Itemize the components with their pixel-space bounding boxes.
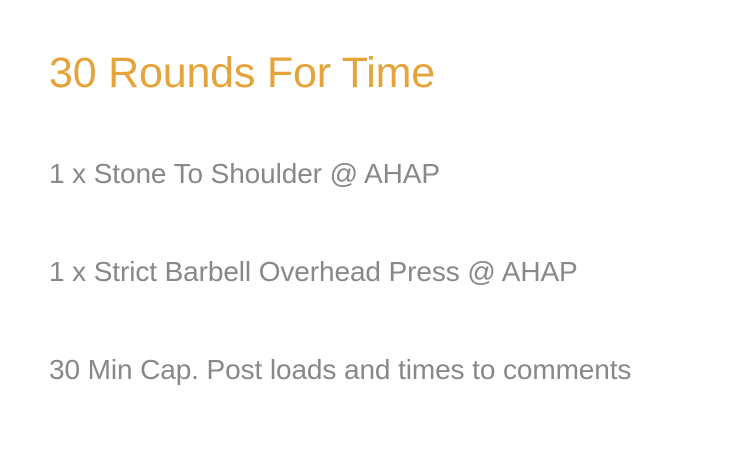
list-item: 1 x Stone To Shoulder @ AHAP <box>49 160 729 188</box>
page-title: 30 Rounds For Time <box>49 49 435 97</box>
list-item: 30 Min Cap. Post loads and times to comm… <box>49 356 729 384</box>
workout-movement-list: 1 x Stone To Shoulder @ AHAP 1 x Strict … <box>49 160 729 384</box>
list-item: 1 x Strict Barbell Overhead Press @ AHAP <box>49 258 729 286</box>
workout-post: 30 Rounds For Time 1 x Stone To Shoulder… <box>0 0 750 462</box>
